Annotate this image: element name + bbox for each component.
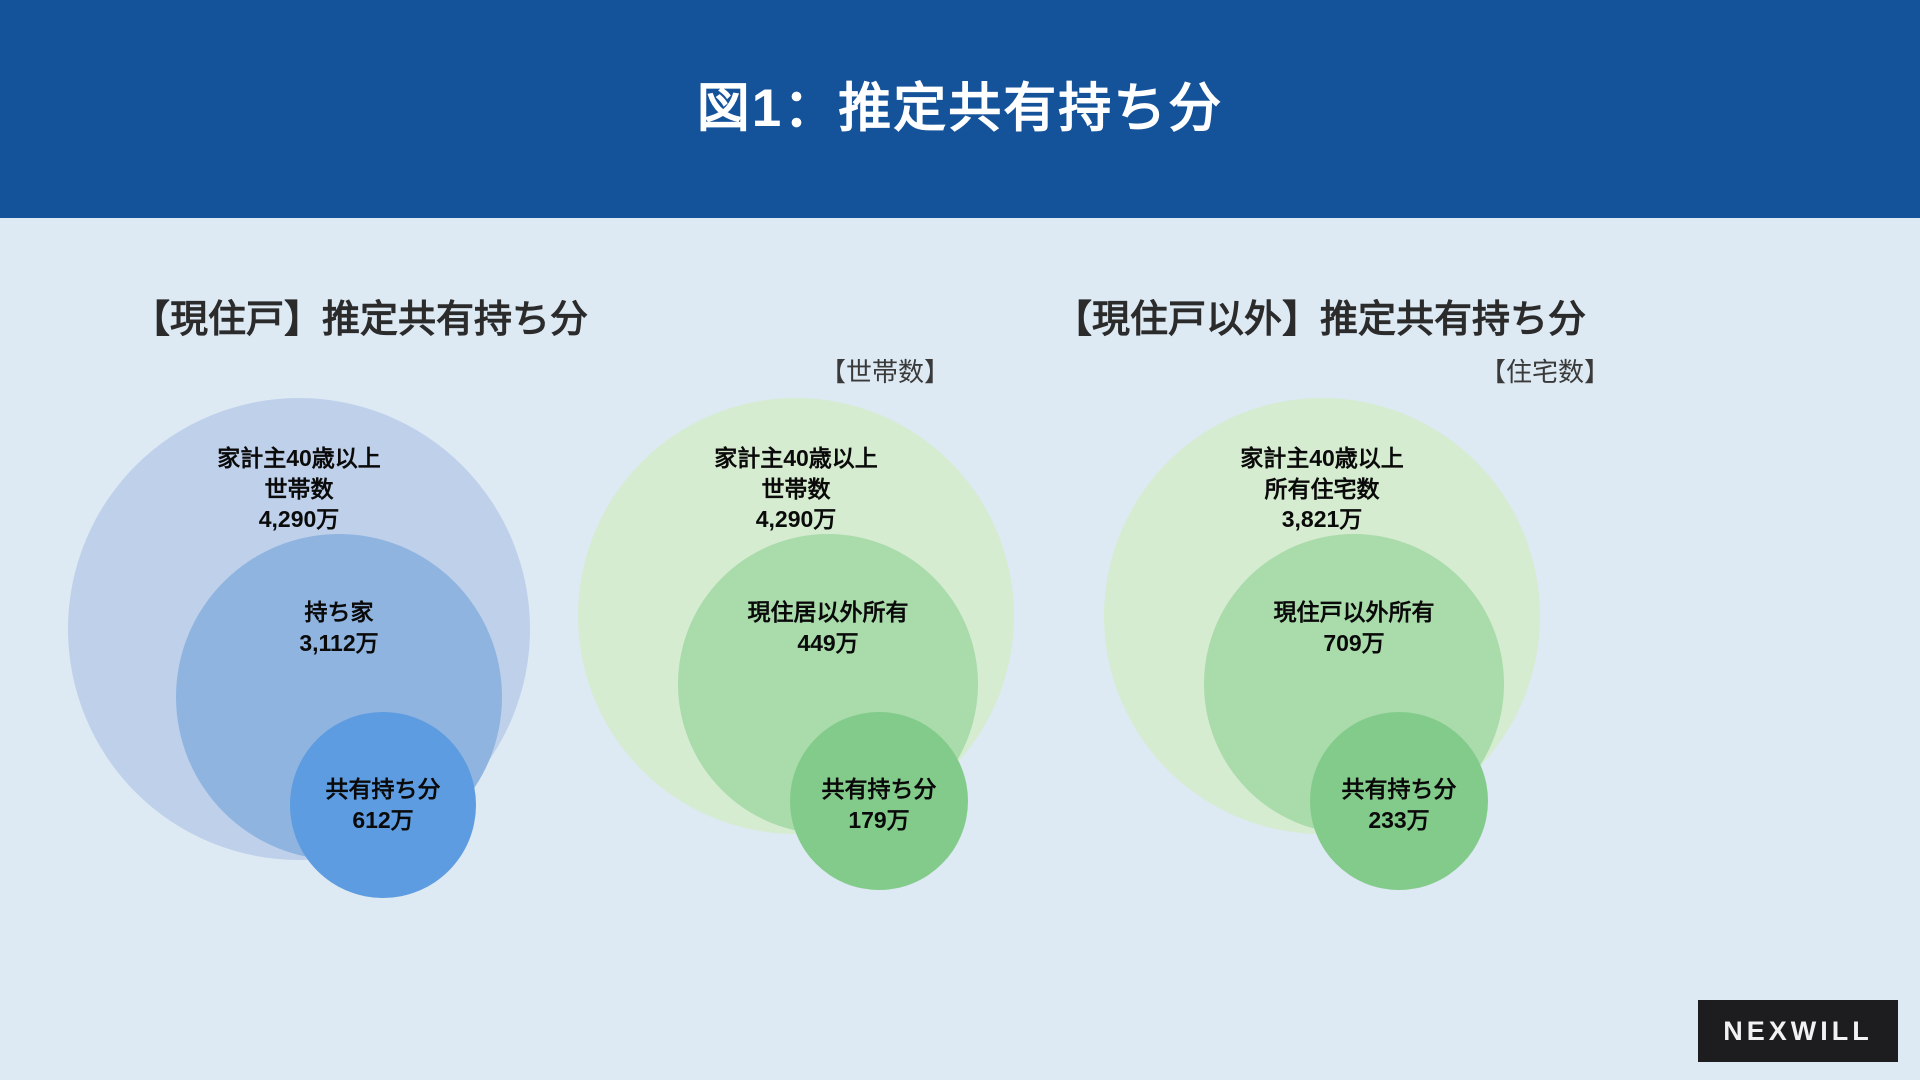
circle-label-inner-green-households: 共有持ち分 179万	[759, 774, 999, 835]
circle-label-mid-green-households: 現住居以外所有 449万	[708, 597, 948, 658]
infographic-page: 図1：推定共有持ち分 【現住戸】推定共有持ち分 【現住戸以外】推定共有持ち分 【…	[0, 0, 1920, 1080]
circle-label-line1: 現住居以外所有	[748, 599, 909, 625]
circle-value-mid-blue: 3,112万	[219, 628, 459, 659]
circle-label-outer-green-households: 家計主40歳以上 世帯数 4,290万	[636, 443, 956, 535]
circle-label-outer-blue: 家計主40歳以上 世帯数 4,290万	[139, 443, 459, 535]
circle-value-inner-green-households: 179万	[759, 805, 999, 836]
circle-label-inner-blue: 共有持ち分 612万	[263, 774, 503, 835]
circle-label-line1: 家計主40歳以上	[217, 445, 381, 471]
circle-label-line1: 共有持ち分	[326, 776, 441, 802]
page-title: 図1：推定共有持ち分	[697, 80, 1223, 138]
circle-value-mid-green-dwellings: 709万	[1234, 628, 1474, 659]
circle-value-outer-blue: 4,290万	[139, 504, 459, 535]
circle-value-outer-green-dwellings: 3,821万	[1162, 504, 1482, 535]
section-subtitle-households: 【世帯数】	[770, 352, 1000, 389]
circle-label-line2: 所有住宅数	[1265, 476, 1380, 502]
circle-label-line1: 現住戸以外所有	[1274, 599, 1435, 625]
section-title-right: 【現住戸以外】推定共有持ち分	[720, 288, 1920, 343]
section-subtitle-dwellings: 【住宅数】	[1430, 352, 1660, 389]
circle-label-line1: 持ち家	[305, 599, 374, 625]
circle-label-inner-green-dwellings: 共有持ち分 233万	[1279, 774, 1519, 835]
circle-label-mid-blue: 持ち家 3,112万	[219, 597, 459, 658]
circle-label-line1: 家計主40歳以上	[1240, 445, 1404, 471]
header-banner: 図1：推定共有持ち分	[0, 0, 1920, 218]
circle-value-mid-green-households: 449万	[708, 628, 948, 659]
circle-label-line2: 世帯数	[265, 476, 334, 502]
brand-logo-text: NEXWILL	[1723, 1016, 1873, 1047]
circle-value-outer-green-households: 4,290万	[636, 504, 956, 535]
brand-logo: NEXWILL	[1698, 1000, 1898, 1062]
circle-value-inner-blue: 612万	[263, 805, 503, 836]
circle-label-outer-green-dwellings: 家計主40歳以上 所有住宅数 3,821万	[1162, 443, 1482, 535]
circle-label-line1: 共有持ち分	[822, 776, 937, 802]
circle-label-line1: 共有持ち分	[1342, 776, 1457, 802]
section-title-left: 【現住戸】推定共有持ち分	[0, 288, 720, 343]
circle-label-line2: 世帯数	[762, 476, 831, 502]
circle-label-line1: 家計主40歳以上	[714, 445, 878, 471]
circle-value-inner-green-dwellings: 233万	[1279, 805, 1519, 836]
circle-label-mid-green-dwellings: 現住戸以外所有 709万	[1234, 597, 1474, 658]
